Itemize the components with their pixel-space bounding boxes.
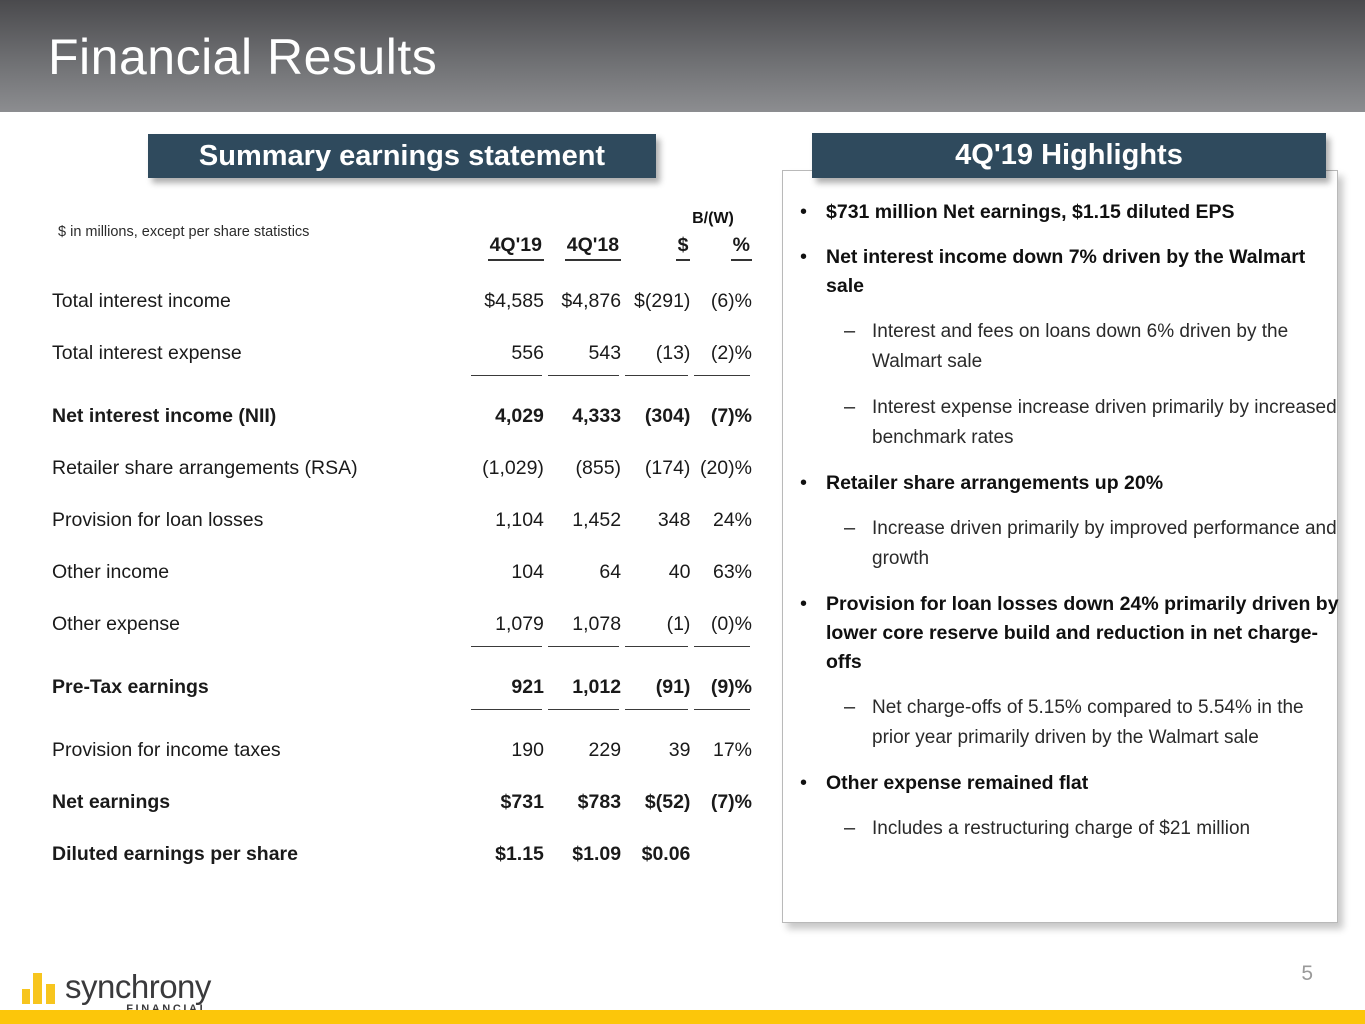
summary-earnings-table: 4Q'19 4Q'18 $ % Total interest income $4… [52, 234, 752, 866]
row-value-percent: (7)% [690, 376, 752, 428]
row-value-dollar: (174) [621, 428, 690, 480]
list-item: • Net interest income down 7% driven by … [794, 243, 1342, 301]
table-header-4q19: 4Q'19 [467, 234, 544, 261]
table-row: Net interest income (NII) 4,029 4,333 (3… [52, 376, 752, 428]
row-value-percent: (20)% [690, 428, 752, 480]
table-row: Other expense 1,079 1,078 (1) (0)% [52, 584, 752, 636]
row-value-percent: 63% [690, 532, 752, 584]
row-label: Pre-Tax earnings [52, 647, 467, 699]
synchrony-bars-icon [22, 970, 58, 1004]
row-value-percent: (2)% [690, 313, 752, 365]
row-value-4q19: 921 [467, 647, 544, 699]
row-label: Net earnings [52, 762, 467, 814]
row-value-4q18: 4,333 [544, 376, 621, 428]
row-value-dollar: $0.06 [621, 814, 690, 866]
bullet-dash-icon: – [844, 393, 872, 422]
row-value-dollar: 348 [621, 480, 690, 532]
row-value-percent: (7)% [690, 762, 752, 814]
highlights-badge: 4Q'19 Highlights [812, 133, 1326, 178]
row-value-4q19: $4,585 [467, 261, 544, 313]
row-value-4q18: 229 [544, 710, 621, 762]
bullet-dash-icon: – [844, 317, 872, 346]
table-row: Pre-Tax earnings 921 1,012 (91) (9)% [52, 647, 752, 699]
row-value-4q18: 543 [544, 313, 621, 365]
slide-header-banner: Financial Results [0, 0, 1365, 112]
table-row: Diluted earnings per share $1.15 $1.09 $… [52, 814, 752, 866]
row-value-dollar: 39 [621, 710, 690, 762]
row-value-4q19: 556 [467, 313, 544, 365]
list-item: – Net charge-offs of 5.15% compared to 5… [794, 693, 1342, 753]
page-number: 5 [1301, 962, 1313, 986]
list-item: • Provision for loan losses down 24% pri… [794, 590, 1342, 677]
row-label: Other expense [52, 584, 467, 636]
summary-earnings-badge-label: Summary earnings statement [199, 140, 605, 173]
table-row: Other income 104 64 40 63% [52, 532, 752, 584]
bullet-dot-icon: • [800, 198, 826, 227]
bullet-dot-icon: • [800, 590, 826, 619]
table-header-row: 4Q'19 4Q'18 $ % [52, 234, 752, 261]
row-label: Net interest income (NII) [52, 376, 467, 428]
list-item: • Retailer share arrangements up 20% [794, 469, 1342, 498]
table-header-4q18: 4Q'18 [544, 234, 621, 261]
row-label: Retailer share arrangements (RSA) [52, 428, 467, 480]
row-label: Diluted earnings per share [52, 814, 467, 866]
list-item-text: Other expense remained flat [826, 769, 1342, 798]
row-value-percent [690, 814, 752, 866]
bullet-dash-icon: – [844, 693, 872, 722]
row-value-percent: 17% [690, 710, 752, 762]
table-row: Retailer share arrangements (RSA) (1,029… [52, 428, 752, 480]
row-value-percent: (0)% [690, 584, 752, 636]
list-item: • Other expense remained flat [794, 769, 1342, 798]
table-row: Total interest expense 556 543 (13) (2)% [52, 313, 752, 365]
list-item: • $731 million Net earnings, $1.15 dilut… [794, 198, 1342, 227]
row-value-4q19: 1,104 [467, 480, 544, 532]
row-value-4q18: $783 [544, 762, 621, 814]
list-item-text: Provision for loan losses down 24% prima… [826, 590, 1342, 677]
row-value-4q19: $731 [467, 762, 544, 814]
row-label: Total interest expense [52, 313, 467, 365]
list-item-text: Increase driven primarily by improved pe… [872, 514, 1342, 574]
table-header-percent: % [690, 234, 752, 261]
row-value-4q19: 1,079 [467, 584, 544, 636]
row-value-dollar: (13) [621, 313, 690, 365]
row-value-4q18: 1,078 [544, 584, 621, 636]
highlights-bullet-list: • $731 million Net earnings, $1.15 dilut… [794, 198, 1342, 860]
logo-wordmark: synchrony FINANCIAL [65, 970, 211, 1004]
table-rule-row [52, 636, 752, 647]
row-label: Provision for income taxes [52, 710, 467, 762]
logo-word: synchrony [65, 970, 211, 1003]
row-value-percent: (9)% [690, 647, 752, 699]
row-value-dollar: 40 [621, 532, 690, 584]
table-header-blank [52, 234, 467, 261]
list-item-text: $731 million Net earnings, $1.15 diluted… [826, 198, 1342, 227]
summary-earnings-badge: Summary earnings statement [148, 134, 656, 178]
table-header-dollar: $ [621, 234, 690, 261]
bullet-dash-icon: – [844, 814, 872, 843]
row-value-4q19: (1,029) [467, 428, 544, 480]
list-item: – Increase driven primarily by improved … [794, 514, 1342, 574]
row-value-4q18: $1.09 [544, 814, 621, 866]
table-row: Provision for loan losses 1,104 1,452 34… [52, 480, 752, 532]
row-value-4q19: 190 [467, 710, 544, 762]
list-item-text: Includes a restructuring charge of $21 m… [872, 814, 1342, 844]
table-row: Total interest income $4,585 $4,876 $(29… [52, 261, 752, 313]
row-value-percent: (6)% [690, 261, 752, 313]
list-item: – Includes a restructuring charge of $21… [794, 814, 1342, 844]
list-item-text: Retailer share arrangements up 20% [826, 469, 1342, 498]
highlights-badge-label: 4Q'19 Highlights [955, 139, 1183, 172]
bullet-dot-icon: • [800, 469, 826, 498]
row-label: Other income [52, 532, 467, 584]
list-item: – Interest and fees on loans down 6% dri… [794, 317, 1342, 377]
row-value-4q18: $4,876 [544, 261, 621, 313]
list-item: – Interest expense increase driven prima… [794, 393, 1342, 453]
row-value-4q19: 4,029 [467, 376, 544, 428]
table-row: Net earnings $731 $783 $(52) (7)% [52, 762, 752, 814]
list-item-text: Net interest income down 7% driven by th… [826, 243, 1342, 301]
row-value-4q19: 104 [467, 532, 544, 584]
row-value-percent: 24% [690, 480, 752, 532]
row-value-dollar: (91) [621, 647, 690, 699]
footer-accent-bar [0, 1010, 1365, 1024]
row-label: Provision for loan losses [52, 480, 467, 532]
row-value-dollar: (1) [621, 584, 690, 636]
row-value-4q18: 1,452 [544, 480, 621, 532]
row-label: Total interest income [52, 261, 467, 313]
row-value-4q18: 64 [544, 532, 621, 584]
table-rule-row [52, 365, 752, 376]
row-value-4q18: (855) [544, 428, 621, 480]
list-item-text: Net charge-offs of 5.15% compared to 5.5… [872, 693, 1342, 753]
row-value-dollar: $(52) [621, 762, 690, 814]
list-item-text: Interest and fees on loans down 6% drive… [872, 317, 1342, 377]
row-value-dollar: $(291) [621, 261, 690, 313]
row-value-4q18: 1,012 [544, 647, 621, 699]
row-value-dollar: (304) [621, 376, 690, 428]
page-title: Financial Results [48, 28, 437, 86]
row-value-4q19: $1.15 [467, 814, 544, 866]
summary-earnings-table-body: Total interest income $4,585 $4,876 $(29… [52, 261, 752, 866]
list-item-text: Interest expense increase driven primari… [872, 393, 1342, 453]
table-row: Provision for income taxes 190 229 39 17… [52, 710, 752, 762]
bw-group-label: B/(W) [648, 210, 778, 228]
table-rule-row [52, 699, 752, 710]
bullet-dot-icon: • [800, 243, 826, 272]
bullet-dot-icon: • [800, 769, 826, 798]
bullet-dash-icon: – [844, 514, 872, 543]
synchrony-financial-logo: synchrony FINANCIAL [22, 958, 211, 1004]
